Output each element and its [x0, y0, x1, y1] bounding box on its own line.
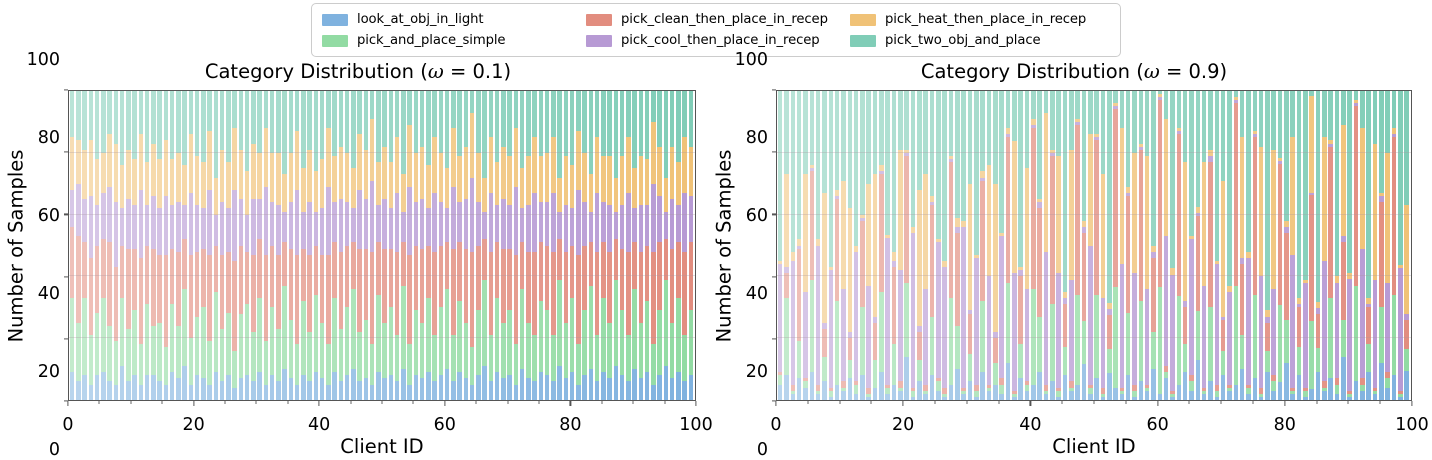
bar-segment-pick-two-obj-and-place	[664, 91, 668, 178]
bar-segment-pick-two-obj-and-place	[1126, 91, 1131, 187]
bar-segment-pick-clean-then-place-in-recep	[457, 242, 461, 301]
bar-segment-pick-cool-then-place-in-recep	[1322, 261, 1327, 382]
bar-segment-pick-and-place-simple	[357, 332, 361, 381]
bar-segment-pick-two-obj-and-place	[120, 91, 124, 165]
bar-segment-pick-clean-then-place-in-recep	[157, 255, 161, 323]
y-tick-label: 0	[49, 440, 68, 460]
bar-segment-pick-two-obj-and-place	[370, 91, 374, 119]
bar-segment-look-at-obj-in-light	[1164, 378, 1169, 400]
panel-right-xlabel: Client ID	[776, 435, 1412, 458]
bar-segment-look-at-obj-in-light	[457, 372, 461, 400]
bar-segment-pick-and-place-simple	[936, 381, 941, 390]
x-tick-mark	[570, 401, 571, 406]
bar-segment-pick-heat-then-place-in-recep	[601, 156, 605, 202]
bar-segment-pick-and-place-simple	[917, 360, 922, 382]
bar-segment-pick-and-place-simple	[1221, 351, 1226, 376]
bar-segment-pick-and-place-simple	[1341, 320, 1346, 357]
bar-segment-pick-two-obj-and-place	[401, 91, 405, 174]
bar-segment-look-at-obj-in-light	[1025, 391, 1030, 400]
bar-segment-pick-and-place-simple	[1139, 301, 1144, 381]
y-tick-mark	[772, 276, 777, 277]
bar-segment-pick-and-place-simple	[1271, 381, 1276, 390]
bar-segment-pick-two-obj-and-place	[1404, 91, 1409, 205]
bar-segment-pick-heat-then-place-in-recep	[557, 178, 561, 212]
bar-segment-pick-clean-then-place-in-recep	[164, 255, 168, 348]
bar-segment-pick-clean-then-place-in-recep	[89, 258, 93, 335]
bar-segment-pick-clean-then-place-in-recep	[514, 255, 518, 345]
bar-segment-pick-two-obj-and-place	[1265, 91, 1270, 310]
bar-segment-look-at-obj-in-light	[987, 391, 992, 400]
bar-segment-pick-two-obj-and-place	[301, 91, 305, 168]
bar-segment-pick-two-obj-and-place	[651, 91, 655, 122]
bar-segment-look-at-obj-in-light	[401, 369, 405, 400]
x-minor-tick-mark	[1253, 401, 1254, 404]
bar-segment-pick-two-obj-and-place	[345, 91, 349, 153]
bar-segment-pick-cool-then-place-in-recep	[657, 196, 661, 242]
bar-segment-pick-clean-then-place-in-recep	[1221, 320, 1226, 351]
bar-segment-pick-cool-then-place-in-recep	[270, 202, 274, 245]
bar-segment-pick-two-obj-and-place	[911, 91, 916, 227]
bar-segment-pick-heat-then-place-in-recep	[1404, 205, 1409, 314]
bar-segment-pick-cool-then-place-in-recep	[987, 276, 992, 384]
bar-segment-pick-clean-then-place-in-recep	[993, 338, 998, 363]
bar-segment-look-at-obj-in-light	[1189, 391, 1194, 400]
x-tick-label: 40	[308, 408, 330, 435]
bar-segment-pick-clean-then-place-in-recep	[1158, 100, 1163, 287]
bar-segment-look-at-obj-in-light	[1196, 360, 1201, 400]
bar-segment-pick-and-place-simple	[904, 283, 909, 357]
bar-segment-pick-two-obj-and-place	[582, 91, 586, 153]
x-minor-tick-mark	[1348, 401, 1349, 404]
bar-segment-pick-and-place-simple	[955, 326, 960, 369]
bar-segment-look-at-obj-in-light	[1183, 372, 1188, 400]
bar-segment-look-at-obj-in-light	[107, 381, 111, 400]
bar-segment-pick-clean-then-place-in-recep	[576, 255, 580, 345]
bar-segment-look-at-obj-in-light	[1379, 363, 1384, 400]
bar-segment-pick-heat-then-place-in-recep	[401, 174, 405, 211]
x-minor-tick-mark	[1316, 401, 1317, 404]
bar-segment-pick-two-obj-and-place	[270, 91, 274, 153]
bar-segment-pick-two-obj-and-place	[873, 91, 878, 174]
legend-item-pick-and-place-simple[interactable]: pick_and_place_simple	[322, 33, 582, 48]
bar-segment-pick-two-obj-and-place	[589, 91, 593, 174]
bar-segment-look-at-obj-in-light	[1158, 394, 1163, 400]
bar-segment-pick-heat-then-place-in-recep	[1202, 162, 1207, 286]
bar-segment-pick-cool-then-place-in-recep	[514, 187, 518, 255]
bar-segment-pick-clean-then-place-in-recep	[420, 249, 424, 323]
bar-segment-pick-clean-then-place-in-recep	[980, 181, 985, 302]
x-tick-mark	[1157, 401, 1158, 406]
bar-segment-look-at-obj-in-light	[220, 381, 224, 400]
bar-segment-look-at-obj-in-light	[651, 385, 655, 400]
bar-segment-look-at-obj-in-light	[1221, 375, 1226, 400]
bar-segment-pick-two-obj-and-place	[132, 91, 136, 159]
bar-segment-pick-two-obj-and-place	[1132, 91, 1137, 153]
bar-segment-look-at-obj-in-light	[841, 391, 846, 400]
bar-segment-pick-two-obj-and-place	[1031, 91, 1036, 119]
bar-segment-pick-two-obj-and-place	[1050, 91, 1055, 150]
bar-segment-pick-two-obj-and-place	[432, 91, 436, 137]
bar-segment-pick-heat-then-place-in-recep	[289, 153, 293, 202]
bar-segment-pick-two-obj-and-place	[1094, 91, 1099, 134]
bar-segment-pick-cool-then-place-in-recep	[545, 202, 549, 245]
bar-segment-pick-two-obj-and-place	[1107, 91, 1112, 303]
bar-segment-pick-cool-then-place-in-recep	[1303, 283, 1308, 388]
bar-segment-pick-cool-then-place-in-recep	[264, 187, 268, 255]
bar-segment-look-at-obj-in-light	[357, 381, 361, 400]
bar-segment-pick-and-place-simple	[551, 335, 555, 381]
bar-segment-look-at-obj-in-light	[464, 378, 468, 400]
bar-segment-pick-two-obj-and-place	[1082, 91, 1087, 221]
bar-segment-pick-heat-then-place-in-recep	[457, 156, 461, 202]
bar-segment-pick-heat-then-place-in-recep	[445, 168, 449, 208]
y-tick-label: 100	[735, 50, 776, 70]
x-minor-tick-mark	[476, 401, 477, 404]
bar-segment-look-at-obj-in-light	[1151, 369, 1156, 400]
bar-segment-pick-two-obj-and-place	[835, 91, 840, 190]
bar-segment-look-at-obj-in-light	[904, 357, 909, 400]
bar-segment-look-at-obj-in-light	[432, 381, 436, 400]
legend-item-look-at-obj-in-light[interactable]: look_at_obj_in_light	[322, 12, 582, 27]
bar-segment-pick-clean-then-place-in-recep	[264, 255, 268, 342]
bar-segment-pick-clean-then-place-in-recep	[245, 252, 249, 305]
bar-segment-pick-and-place-simple	[295, 344, 299, 384]
bar-segment-pick-cool-then-place-in-recep	[999, 236, 1004, 378]
bar-segment-pick-heat-then-place-in-recep	[607, 156, 611, 205]
bar-segment-pick-and-place-simple	[1379, 307, 1384, 363]
bar-segment-pick-clean-then-place-in-recep	[470, 252, 474, 348]
bar-segment-pick-two-obj-and-place	[289, 91, 293, 153]
bar-segment-pick-and-place-simple	[557, 280, 561, 367]
bar-segment-pick-two-obj-and-place	[632, 91, 636, 168]
bar-segment-pick-two-obj-and-place	[1271, 91, 1276, 150]
bar-segment-look-at-obj-in-light	[1328, 378, 1333, 400]
bar-segment-pick-heat-then-place-in-recep	[551, 137, 555, 193]
legend-item-pick-clean-then-place-in-recep[interactable]: pick_clean_then_place_in_recep	[586, 12, 846, 27]
bar-segment-pick-two-obj-and-place	[326, 91, 330, 128]
legend-item-pick-heat-then-place-in-recep[interactable]: pick_heat_then_place_in_recep	[850, 12, 1110, 27]
bar-segment-look-at-obj-in-light	[848, 378, 853, 400]
bar-segment-pick-two-obj-and-place	[1379, 91, 1384, 193]
bar-segment-pick-and-place-simple	[395, 335, 399, 381]
bar-segment-pick-clean-then-place-in-recep	[407, 255, 411, 345]
bar-segment-pick-two-obj-and-place	[1347, 91, 1352, 273]
bar-segment-look-at-obj-in-light	[332, 372, 336, 400]
legend-item-pick-cool-then-place-in-recep[interactable]: pick_cool_then_place_in_recep	[586, 33, 846, 48]
bar-segment-look-at-obj-in-light	[657, 375, 661, 400]
bar-segment-look-at-obj-in-light	[1234, 385, 1239, 400]
legend-swatch-icon	[586, 14, 612, 26]
bar-segment-pick-and-place-simple	[595, 335, 599, 381]
bar-segment-pick-cool-then-place-in-recep	[320, 208, 324, 254]
bar-segment-look-at-obj-in-light	[898, 391, 903, 400]
y-tick-mark	[772, 338, 777, 339]
bar-segment-pick-and-place-simple	[1234, 286, 1239, 385]
bar-segment-look-at-obj-in-light	[170, 372, 174, 400]
bar-segment-look-at-obj-in-light	[82, 375, 86, 400]
bar-segment-pick-heat-then-place-in-recep	[270, 153, 274, 202]
bar-segment-look-at-obj-in-light	[489, 381, 493, 400]
bar-segment-look-at-obj-in-light	[339, 381, 343, 400]
bar-segment-pick-heat-then-place-in-recep	[670, 147, 674, 200]
bar-segment-pick-and-place-simple	[854, 385, 859, 394]
bar-segment-pick-and-place-simple	[164, 347, 168, 384]
x-minor-tick-mark	[664, 401, 665, 404]
bar-segment-pick-clean-then-place-in-recep	[276, 255, 280, 329]
bar-segment-pick-and-place-simple	[289, 320, 293, 379]
bar-segment-pick-two-obj-and-place	[464, 91, 468, 147]
bar-segment-pick-and-place-simple	[1335, 385, 1340, 394]
bar-segment-pick-and-place-simple	[270, 307, 274, 375]
bar-segment-look-at-obj-in-light	[873, 388, 878, 400]
bar-segment-look-at-obj-in-light	[364, 378, 368, 400]
bar-segment-pick-two-obj-and-place	[595, 91, 599, 137]
bar-segment-pick-two-obj-and-place	[955, 91, 960, 218]
bar-segment-pick-two-obj-and-place	[295, 91, 299, 131]
bar-segment-pick-cool-then-place-in-recep	[1088, 246, 1093, 385]
bar-segment-pick-and-place-simple	[1284, 320, 1289, 363]
bar-segment-look-at-obj-in-light	[923, 394, 928, 400]
bar-segment-pick-heat-then-place-in-recep	[993, 184, 998, 332]
bar-segment-pick-two-obj-and-place	[257, 91, 261, 153]
bar-segment-pick-clean-then-place-in-recep	[1075, 125, 1080, 295]
x-minor-tick-mark	[382, 401, 383, 404]
bar-segment-look-at-obj-in-light	[470, 385, 474, 400]
bar-segment-pick-heat-then-place-in-recep	[139, 134, 143, 190]
bar-segment-pick-heat-then-place-in-recep	[182, 165, 186, 205]
bar-segment-pick-clean-then-place-in-recep	[632, 242, 636, 288]
bar-segment-look-at-obj-in-light	[420, 378, 424, 400]
bar-segment-pick-and-place-simple	[999, 385, 1004, 394]
bar-segment-pick-two-obj-and-place	[961, 91, 966, 221]
bar-segment-pick-two-obj-and-place	[414, 91, 418, 153]
bar-segment-pick-two-obj-and-place	[639, 91, 643, 156]
bar-segment-pick-clean-then-place-in-recep	[439, 246, 443, 308]
bar-segment-pick-heat-then-place-in-recep	[520, 168, 524, 208]
bar-segment-pick-and-place-simple	[968, 354, 973, 382]
bar-segment-look-at-obj-in-light	[545, 375, 549, 400]
x-minor-tick-mark	[287, 401, 288, 404]
bar-segment-pick-and-place-simple	[1196, 311, 1201, 360]
bar-segment-pick-two-obj-and-place	[189, 91, 193, 134]
bar-segment-pick-clean-then-place-in-recep	[949, 162, 954, 298]
bar-segment-look-at-obj-in-light	[495, 372, 499, 400]
bar-segment-pick-clean-then-place-in-recep	[1082, 233, 1087, 321]
bar-segment-pick-cool-then-place-in-recep	[182, 205, 186, 239]
bar-segment-pick-and-place-simple	[582, 310, 586, 375]
bar-segment-pick-heat-then-place-in-recep	[495, 162, 499, 205]
bar-segment-pick-and-place-simple	[89, 335, 93, 384]
bar-segment-pick-clean-then-place-in-recep	[689, 242, 693, 310]
bar-segment-pick-heat-then-place-in-recep	[620, 156, 624, 205]
bar-segment-pick-clean-then-place-in-recep	[1050, 156, 1055, 304]
bar-segment-look-at-obj-in-light	[1284, 363, 1289, 400]
legend-swatch-icon	[322, 35, 348, 47]
bar-segment-pick-heat-then-place-in-recep	[176, 153, 180, 202]
x-minor-tick-mark	[256, 401, 257, 404]
bar-segment-pick-cool-then-place-in-recep	[670, 199, 674, 248]
bar-segment-pick-heat-then-place-in-recep	[1069, 150, 1074, 280]
bar-segment-pick-heat-then-place-in-recep	[207, 131, 211, 190]
bar-segment-pick-and-place-simple	[95, 313, 99, 375]
bar-segment-pick-two-obj-and-place	[551, 91, 555, 137]
bar-segment-pick-clean-then-place-in-recep	[676, 242, 680, 298]
bar-segment-look-at-obj-in-light	[835, 385, 840, 400]
legend-item-pick-two-obj-and-place[interactable]: pick_two_obj_and_place	[850, 33, 1110, 48]
x-tick-label: 40	[1019, 408, 1041, 435]
bar-segment-pick-two-obj-and-place	[395, 91, 399, 137]
panel-right-axes	[776, 90, 1412, 401]
panel-left-plot	[69, 91, 695, 400]
bar-segment-look-at-obj-in-light	[1113, 388, 1118, 400]
x-tick-mark	[1411, 401, 1412, 406]
bar-segment-look-at-obj-in-light	[264, 385, 268, 400]
bar-segment-pick-two-obj-and-place	[1069, 91, 1074, 150]
bar-segment-look-at-obj-in-light	[114, 385, 118, 400]
bar-segment-look-at-obj-in-light	[917, 381, 922, 400]
bar-segment-pick-cool-then-place-in-recep	[911, 233, 916, 388]
bar-segment-pick-two-obj-and-place	[1392, 91, 1397, 128]
bar-segment-pick-cool-then-place-in-recep	[232, 190, 236, 261]
bar-segment-pick-and-place-simple	[1265, 351, 1270, 373]
bar-segment-pick-and-place-simple	[526, 323, 530, 379]
bar-segment-pick-heat-then-place-in-recep	[439, 153, 443, 202]
bar-segment-pick-two-obj-and-place	[1215, 91, 1220, 261]
bar-segment-pick-heat-then-place-in-recep	[917, 190, 922, 326]
bar-segment-pick-two-obj-and-place	[822, 91, 827, 193]
bar-segment-pick-two-obj-and-place	[892, 91, 897, 252]
bar-segment-pick-cool-then-place-in-recep	[829, 270, 834, 387]
bar-segment-pick-heat-then-place-in-recep	[489, 137, 493, 193]
grid-line	[69, 337, 695, 338]
bar-segment-pick-heat-then-place-in-recep	[570, 165, 574, 208]
y-tick-mark	[64, 214, 69, 215]
bar-segment-look-at-obj-in-light	[1373, 394, 1378, 400]
bar-segment-pick-and-place-simple	[257, 298, 261, 372]
bar-segment-pick-two-obj-and-place	[1196, 91, 1201, 207]
bar-segment-pick-clean-then-place-in-recep	[1183, 307, 1188, 344]
bar-segment-pick-cool-then-place-in-recep	[339, 199, 343, 252]
grid-line	[777, 152, 1411, 153]
bar-segment-pick-heat-then-place-in-recep	[784, 174, 789, 267]
bar-segment-pick-and-place-simple	[860, 307, 865, 375]
bar-segment-pick-two-obj-and-place	[1170, 91, 1175, 268]
bar-segment-pick-two-obj-and-place	[1012, 91, 1017, 140]
bar-segment-pick-and-place-simple	[778, 375, 783, 384]
bar-segment-look-at-obj-in-light	[1392, 375, 1397, 400]
x-tick-mark	[319, 401, 320, 406]
bar-segment-pick-and-place-simple	[1309, 321, 1314, 389]
bar-segment-look-at-obj-in-light	[1354, 381, 1359, 400]
y-tick-label: 100	[27, 50, 68, 70]
bar-segment-pick-clean-then-place-in-recep	[282, 242, 286, 285]
bar-segment-look-at-obj-in-light	[445, 369, 449, 400]
bar-segment-pick-heat-then-place-in-recep	[189, 134, 193, 193]
bar-segment-pick-and-place-simple	[1366, 344, 1371, 372]
bar-segment-pick-heat-then-place-in-recep	[1309, 96, 1314, 193]
bar-segment-look-at-obj-in-light	[1271, 391, 1276, 400]
bar-segment-look-at-obj-in-light	[195, 375, 199, 400]
bar-segment-look-at-obj-in-light	[201, 378, 205, 400]
bar-segment-pick-two-obj-and-place	[1113, 91, 1118, 103]
bar-segment-pick-clean-then-place-in-recep	[207, 255, 211, 342]
bar-segment-pick-and-place-simple	[873, 360, 878, 388]
bar-segment-pick-clean-then-place-in-recep	[545, 246, 549, 311]
bar-segment-look-at-obj-in-light	[829, 397, 834, 400]
bar-segment-pick-and-place-simple	[451, 335, 455, 381]
bar-segment-pick-two-obj-and-place	[1335, 91, 1340, 276]
bar-segment-look-at-obj-in-light	[930, 375, 935, 400]
bar-segment-pick-heat-then-place-in-recep	[645, 159, 649, 205]
bar-segment-pick-two-obj-and-place	[357, 91, 361, 134]
bar-segment-pick-two-obj-and-place	[1139, 91, 1144, 144]
bar-segment-pick-heat-then-place-in-recep	[339, 147, 343, 200]
bar-segment-pick-two-obj-and-place	[791, 91, 796, 252]
bar-segment-pick-heat-then-place-in-recep	[164, 140, 168, 196]
bar-segment-pick-cool-then-place-in-recep	[332, 202, 336, 242]
bar-segment-pick-cool-then-place-in-recep	[1189, 239, 1194, 375]
bar-segment-pick-two-obj-and-place	[364, 91, 368, 150]
bar-segment-pick-cool-then-place-in-recep	[76, 184, 80, 237]
x-minor-tick-mark	[633, 401, 634, 404]
bar-segment-pick-two-obj-and-place	[1354, 91, 1359, 100]
bar-segment-pick-cool-then-place-in-recep	[295, 190, 299, 255]
bar-segment-pick-two-obj-and-place	[949, 91, 954, 156]
bar-segment-pick-cool-then-place-in-recep	[207, 190, 211, 255]
bar-segment-look-at-obj-in-light	[1253, 378, 1258, 400]
bar-segment-pick-clean-then-place-in-recep	[295, 255, 299, 345]
bar-segment-look-at-obj-in-light	[307, 381, 311, 400]
bar-segment-pick-and-place-simple	[476, 310, 480, 375]
bar-segment-pick-two-obj-and-place	[1373, 91, 1378, 144]
bar-segment-look-at-obj-in-light	[1347, 397, 1352, 400]
bar-segment-pick-two-obj-and-place	[1253, 91, 1258, 131]
bar-segment-pick-clean-then-place-in-recep	[1196, 216, 1201, 311]
bar-segment-pick-cool-then-place-in-recep	[595, 193, 599, 252]
bar-segment-pick-two-obj-and-place	[778, 91, 783, 261]
bar-segment-pick-cool-then-place-in-recep	[95, 205, 99, 245]
bar-segment-pick-two-obj-and-place	[195, 91, 199, 156]
bar-segment-pick-clean-then-place-in-recep	[482, 239, 486, 279]
bar-segment-pick-clean-then-place-in-recep	[570, 246, 574, 299]
bar-segment-look-at-obj-in-light	[1069, 391, 1074, 400]
bar-segment-pick-heat-then-place-in-recep	[892, 252, 897, 261]
bar-segment-look-at-obj-in-light	[955, 369, 960, 400]
bar-segment-pick-cool-then-place-in-recep	[226, 208, 230, 251]
bar-segment-pick-cool-then-place-in-recep	[1335, 283, 1340, 379]
bar-segment-pick-and-place-simple	[822, 357, 827, 382]
bar-segment-pick-clean-then-place-in-recep	[126, 249, 130, 329]
bar-segment-look-at-obj-in-light	[810, 372, 815, 400]
bar-segment-pick-clean-then-place-in-recep	[626, 252, 630, 335]
bar-segment-pick-clean-then-place-in-recep	[357, 249, 361, 332]
x-minor-tick-mark	[807, 401, 808, 404]
bar-segment-pick-and-place-simple	[993, 363, 998, 385]
bar-segment-pick-heat-then-place-in-recep	[639, 156, 643, 205]
bar-segment-pick-cool-then-place-in-recep	[457, 202, 461, 242]
bar-segment-pick-clean-then-place-in-recep	[176, 252, 180, 326]
bar-segment-look-at-obj-in-light	[239, 378, 243, 400]
bar-segment-pick-two-obj-and-place	[1075, 91, 1080, 119]
bar-segment-pick-cool-then-place-in-recep	[345, 202, 349, 245]
bar-segment-look-at-obj-in-light	[791, 394, 796, 400]
bar-segment-pick-cool-then-place-in-recep	[689, 196, 693, 242]
bar-segment-pick-heat-then-place-in-recep	[195, 156, 199, 205]
bar-segment-look-at-obj-in-light	[301, 375, 305, 400]
bar-segment-pick-and-place-simple	[1158, 287, 1163, 394]
bar-segment-pick-heat-then-place-in-recep	[395, 137, 399, 193]
x-tick-label: 0	[62, 408, 73, 435]
